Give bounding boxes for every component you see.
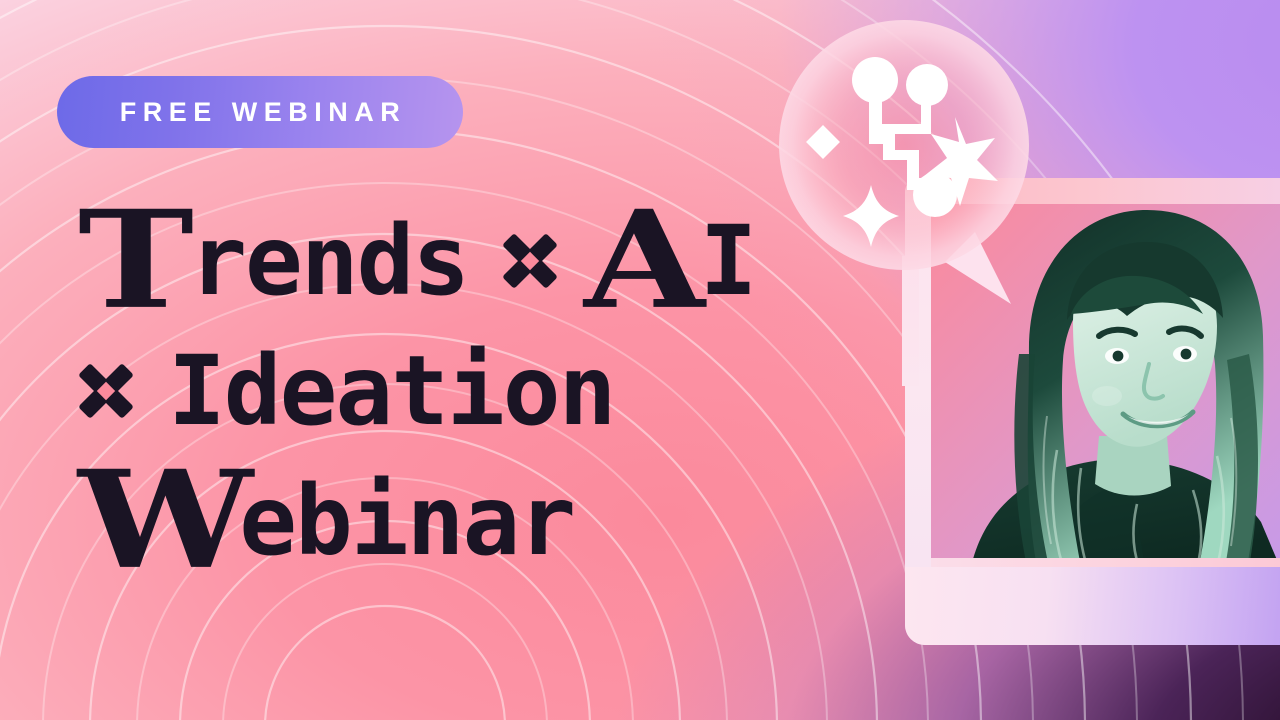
webinar-promo-banner: FREE WEBINAR T rends A I I deation W ebi… xyxy=(0,0,1280,720)
headline-line-1: T rends A I xyxy=(78,196,838,326)
multiply-separator-icon xyxy=(502,233,558,289)
headline-line-3: W ebinar xyxy=(78,456,838,586)
badge-label: FREE WEBINAR xyxy=(114,99,407,126)
headline-word-webinar: ebinar xyxy=(239,478,574,564)
frame-inner-edge xyxy=(931,558,1280,567)
free-webinar-badge[interactable]: FREE WEBINAR xyxy=(57,76,463,148)
frame-bottom-bar xyxy=(905,567,1280,645)
headline: T rends A I I deation W ebinar xyxy=(78,196,838,586)
headline-word-ai: I xyxy=(700,218,756,304)
headline-line-2: I deation xyxy=(78,326,838,456)
headline-cap-w: W xyxy=(78,467,249,575)
headline-cap-i: I xyxy=(168,348,224,434)
ai-speech-bubble xyxy=(779,18,1047,310)
headline-cap-t: T xyxy=(78,207,190,315)
headline-word-ideation: deation xyxy=(224,348,615,434)
headline-cap-a: A xyxy=(584,207,701,315)
speech-bubble-shape xyxy=(779,18,1047,310)
headline-word-trends: rends xyxy=(189,218,468,304)
multiply-separator-icon xyxy=(78,363,134,419)
